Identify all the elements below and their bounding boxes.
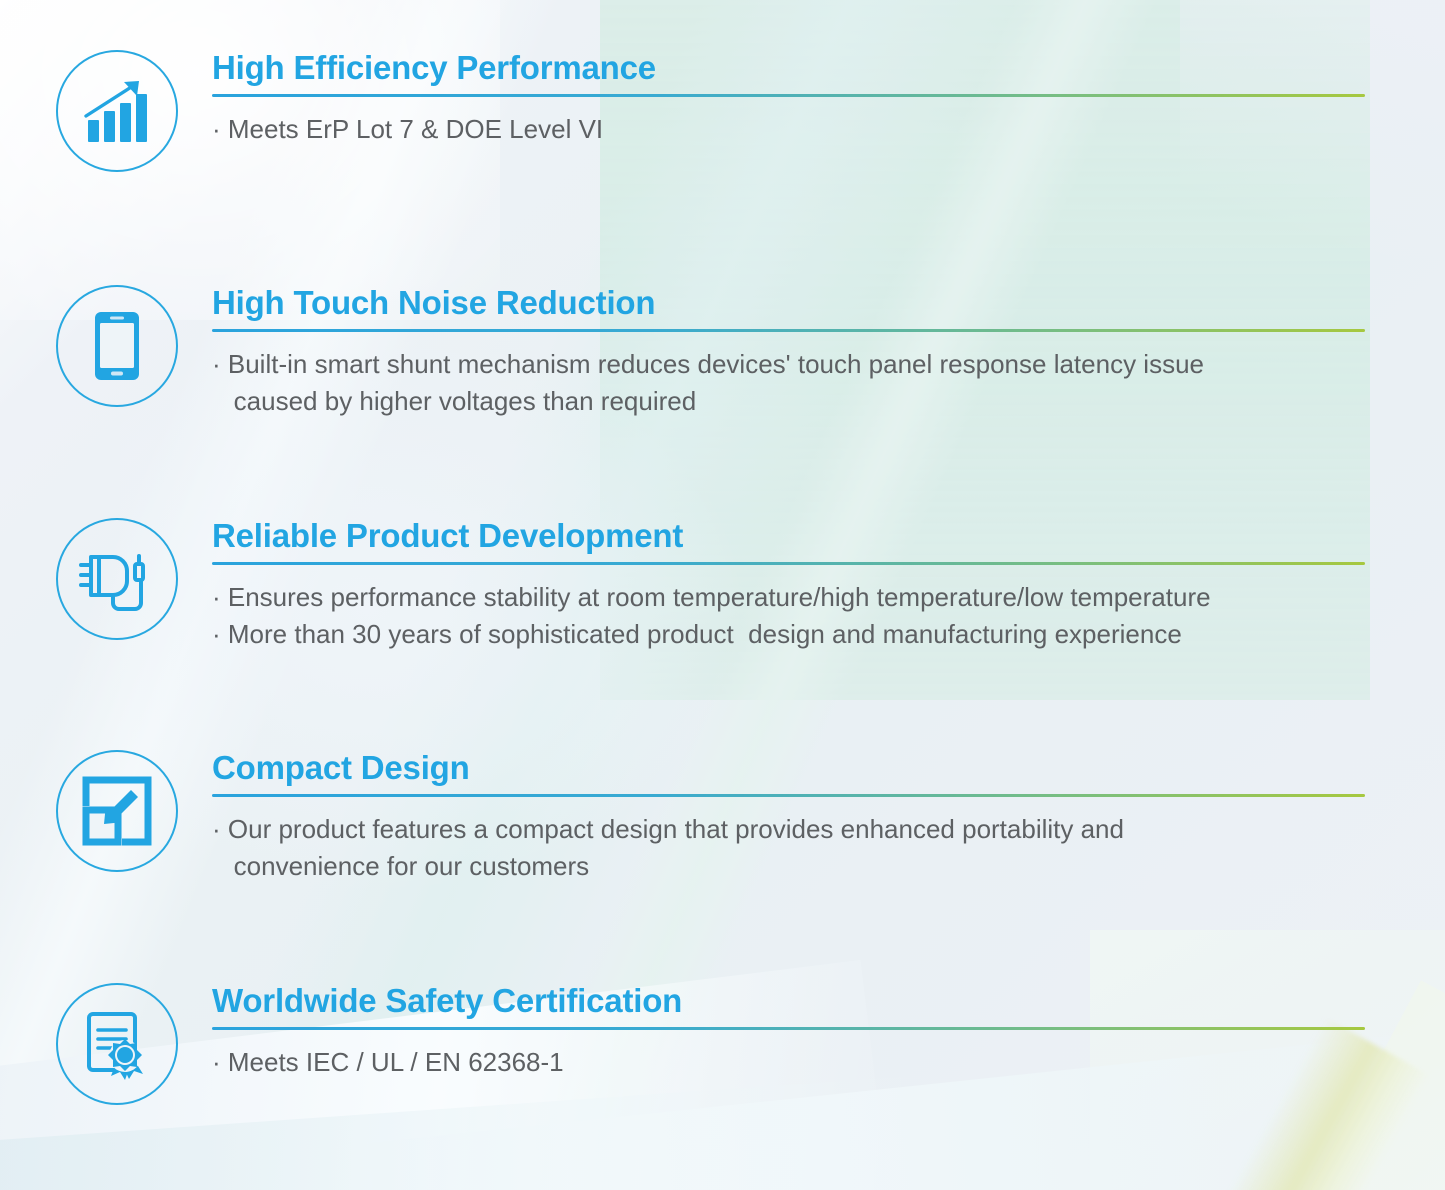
feature-title: Reliable Product Development (212, 518, 1372, 555)
bar-chart-growth-icon (56, 50, 178, 172)
certificate-award-icon (56, 983, 178, 1105)
feature-icon-wrapper (56, 750, 178, 872)
feature-bullets: · Built-in smart shunt mechanism reduces… (212, 346, 1372, 420)
feature-bullets: · Meets ErP Lot 7 & DOE Level VI (212, 111, 1372, 148)
feature-title: High Efficiency Performance (212, 50, 1372, 87)
feature-bullet: · Our product features a compact design … (212, 811, 1372, 885)
feature-icon-wrapper (56, 50, 178, 172)
feature-title: Worldwide Safety Certification (212, 983, 1372, 1020)
feature-divider (212, 94, 1365, 97)
feature-content: High Touch Noise Reduction · Built-in sm… (212, 285, 1372, 420)
smartphone-icon (56, 285, 178, 407)
feature-title: Compact Design (212, 750, 1372, 787)
feature-content: Compact Design · Our product features a … (212, 750, 1372, 885)
feature-title: High Touch Noise Reduction (212, 285, 1372, 322)
feature-bullet: · Ensures performance stability at room … (212, 579, 1372, 616)
feature-highlights-page: High Efficiency Performance · Meets ErP … (0, 0, 1445, 1190)
power-adapter-icon (56, 518, 178, 640)
feature-content: Reliable Product Development · Ensures p… (212, 518, 1372, 653)
feature-icon-wrapper (56, 285, 178, 407)
feature-bullets: · Meets IEC / UL / EN 62368-1 (212, 1044, 1372, 1081)
feature-content: Worldwide Safety Certification · Meets I… (212, 983, 1372, 1081)
feature-bullet: · Meets ErP Lot 7 & DOE Level VI (212, 111, 1372, 148)
feature-icon-wrapper (56, 983, 178, 1105)
feature-bullets: · Our product features a compact design … (212, 811, 1372, 885)
feature-divider (212, 329, 1365, 332)
feature-divider (212, 1027, 1365, 1030)
feature-bullet: · More than 30 years of sophisticated pr… (212, 616, 1372, 653)
feature-bullet: · Built-in smart shunt mechanism reduces… (212, 346, 1372, 420)
compact-resize-icon (56, 750, 178, 872)
feature-list: High Efficiency Performance · Meets ErP … (0, 0, 1445, 1190)
feature-divider (212, 562, 1365, 565)
feature-bullets: · Ensures performance stability at room … (212, 579, 1372, 653)
feature-content: High Efficiency Performance · Meets ErP … (212, 50, 1372, 148)
feature-bullet: · Meets IEC / UL / EN 62368-1 (212, 1044, 1372, 1081)
feature-divider (212, 794, 1365, 797)
feature-icon-wrapper (56, 518, 178, 640)
